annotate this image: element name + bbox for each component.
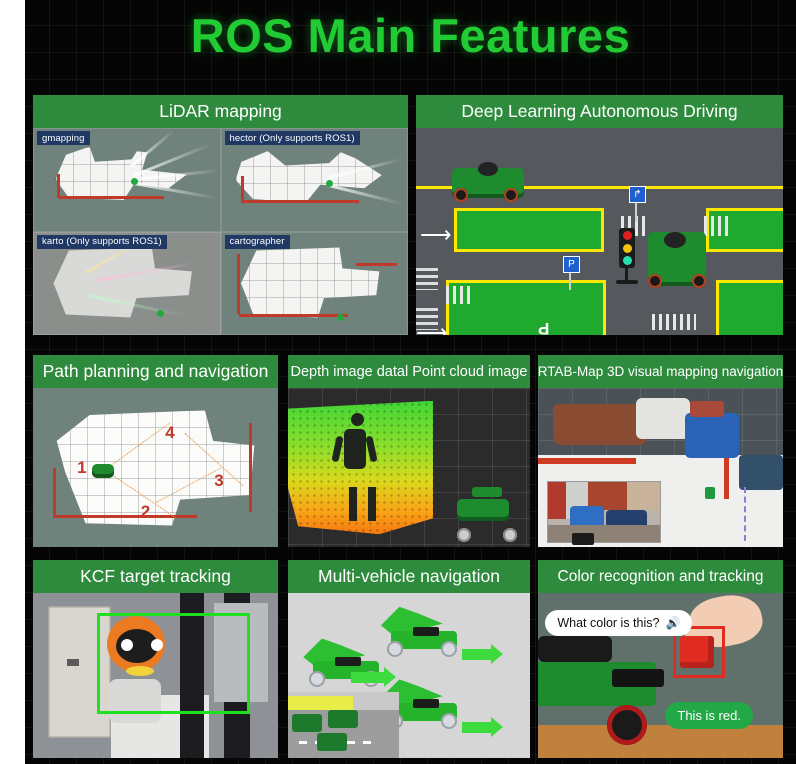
person-torso: [344, 429, 366, 469]
answer-bubble: This is red.: [665, 702, 753, 729]
sim-vehicle-wheel: [309, 671, 325, 687]
question-bubble: What color is this? 🔊: [545, 610, 692, 636]
navigation-trajectory: [744, 487, 746, 541]
robot-pose-marker: [131, 178, 138, 185]
robot-car: [572, 533, 594, 545]
panel-body-color-recognition: What color is this? 🔊 This is red.: [538, 593, 783, 758]
grass-block: [454, 208, 604, 252]
panel-body-multi-vehicle: [288, 593, 530, 758]
cloud-blob-wall: [553, 404, 646, 445]
direction-arrow-icon: [462, 722, 492, 733]
panel-header-color-recognition: Color recognition and tracking: [538, 560, 783, 593]
map-wall: [239, 314, 348, 317]
map-grid: [232, 246, 386, 321]
lidar-label-hector: hector (Only supports ROS1): [225, 131, 360, 145]
map-wall: [243, 200, 359, 203]
car-wheel: [504, 188, 518, 202]
crosswalk-stripe: [704, 216, 728, 236]
cloud-blob-green: [705, 487, 715, 499]
map-wall: [59, 196, 164, 199]
real-robot: [328, 710, 358, 728]
car-lidar: [478, 162, 498, 176]
panel-body-path-planning: 1 2 3 4: [33, 388, 278, 547]
grass-block: [446, 280, 606, 335]
map-wall: [356, 263, 397, 266]
direction-arrow-icon: [462, 649, 492, 660]
robot-car: [457, 499, 509, 521]
sim-vehicle-wheel: [387, 641, 403, 657]
traffic-light-yellow: [623, 244, 632, 253]
sim-vehicle-top: [413, 699, 439, 708]
inset-lane-yellow: [288, 696, 353, 711]
door-handle: [67, 659, 79, 666]
crosswalk-stripe: [446, 286, 470, 304]
occupancy-map: [44, 246, 198, 321]
map-wall: [57, 174, 60, 199]
traffic-sign-parking: P: [563, 256, 580, 273]
robot-lidar: [538, 636, 612, 662]
car-wheel: [648, 274, 662, 288]
cloud-blob-white: [636, 398, 690, 439]
robot-car: [92, 464, 114, 478]
traffic-sign-turn: ↱: [629, 186, 646, 203]
panel-multi-vehicle[interactable]: Multi-vehicle navigation: [288, 560, 530, 758]
ros-features-poster: ROS Main Features LiDAR mapping gmapping…: [0, 0, 796, 764]
map-wall: [53, 468, 56, 519]
panel-header-rtab: RTAB-Map 3D visual mapping navigation: [538, 355, 783, 388]
panel-header-driving: Deep Learning Autonomous Driving: [416, 95, 783, 128]
occupancy-map: [232, 246, 386, 321]
road-arrow-icon: ⟶: [420, 224, 452, 246]
waypoint-2: 2: [141, 502, 150, 522]
sign-pole: [569, 270, 571, 290]
panel-kcf-tracking[interactable]: KCF target tracking: [33, 560, 278, 758]
zebra-crossing: [652, 314, 696, 330]
robot-pose-marker: [326, 180, 333, 187]
panel-body-kcf: [33, 593, 278, 758]
panel-body-lidar: gmapping hector (Only supports ROS1): [33, 128, 408, 335]
sim-vehicle-wheel: [441, 713, 457, 729]
robot-pose-marker: [337, 314, 344, 321]
lidar-quadrant-gmapping[interactable]: gmapping: [33, 128, 221, 232]
traffic-light: [619, 228, 635, 268]
inset-floor: [548, 525, 661, 542]
panel-lidar-mapping[interactable]: LiDAR mapping gmapping hector (Only supp…: [33, 95, 408, 335]
car-wheel: [454, 188, 468, 202]
panel-autonomous-driving[interactable]: Deep Learning Autonomous Driving ↱: [416, 95, 783, 335]
zebra-crossing: [416, 268, 438, 290]
inset-wall-red: [548, 482, 566, 519]
panel-body-driving: ↱ P ⟶ ⟶ P: [416, 128, 783, 335]
inset-wall: [627, 482, 661, 510]
panel-body-rtab: [538, 388, 783, 547]
waypoint-4: 4: [165, 423, 174, 443]
panel-header-depth: Depth image datal Point cloud image: [288, 355, 530, 388]
real-robot-inset: [288, 692, 399, 758]
car-plate: [472, 487, 502, 497]
map-wall: [241, 176, 244, 203]
panel-depth-image[interactable]: Depth image datal Point cloud image: [288, 355, 530, 547]
tracking-bounding-box: [97, 613, 250, 715]
map-wall: [249, 423, 252, 512]
panel-header-multi-vehicle: Multi-vehicle navigation: [288, 560, 530, 593]
panel-body-depth: [288, 388, 530, 547]
person-leg: [368, 487, 376, 521]
lidar-label-karto: karto (Only supports ROS1): [37, 235, 167, 249]
cloud-blob-red: [690, 401, 724, 417]
map-wall: [237, 254, 240, 314]
robot-pose-marker: [157, 310, 164, 317]
road-marking-p: P: [538, 318, 549, 335]
car-lidar: [664, 232, 686, 248]
traffic-light-base: [616, 280, 638, 284]
traffic-light-green: [623, 256, 632, 265]
car-wheel: [692, 274, 706, 288]
lidar-quadrant-karto[interactable]: karto (Only supports ROS1): [33, 232, 221, 336]
real-robot: [317, 733, 347, 751]
sim-vehicle-top: [335, 657, 361, 666]
speaker-icon: 🔊: [665, 616, 680, 630]
traffic-light-red: [623, 231, 632, 240]
waypoint-3: 3: [214, 471, 223, 491]
road-arrow-icon: ⟶: [416, 322, 448, 335]
page-title: ROS Main Features: [25, 8, 796, 63]
panel-header-kcf: KCF target tracking: [33, 560, 278, 593]
lidar-label-gmapping: gmapping: [37, 131, 90, 145]
lidar-label-cartographer: cartographer: [225, 235, 290, 249]
sim-vehicle-top: [413, 627, 439, 636]
sign-pole: [635, 200, 637, 222]
panel-rtab-map[interactable]: RTAB-Map 3D visual mapping navigation: [538, 355, 783, 547]
panel-color-recognition[interactable]: Color recognition and tracking What colo…: [538, 560, 783, 758]
sim-vehicle-wheel: [441, 641, 457, 657]
waypoint-1: 1: [77, 458, 86, 478]
cloud-blob-sofa: [685, 413, 739, 458]
grass-block: [716, 280, 783, 335]
real-robot: [292, 714, 322, 732]
desk-surface: [538, 725, 783, 758]
panel-header-lidar: LiDAR mapping: [33, 95, 408, 128]
camera-inset: [548, 482, 661, 542]
sim-vehicle: [385, 613, 465, 659]
question-text: What color is this?: [557, 616, 659, 630]
robot-camera: [612, 669, 664, 687]
robot-wheel: [607, 705, 647, 745]
cloud-blob-floorline: [724, 458, 729, 499]
cloud-blob-floorline: [538, 458, 636, 464]
lidar-quadrant-hector[interactable]: hector (Only supports ROS1): [221, 128, 409, 232]
person-leg: [349, 487, 357, 521]
direction-arrow-icon: [351, 672, 385, 683]
cloud-blob-dark: [739, 455, 783, 490]
panel-header-path-planning: Path planning and navigation: [33, 355, 278, 388]
lidar-quadrant-cartographer[interactable]: cartographer: [221, 232, 409, 336]
panel-path-planning[interactable]: Path planning and navigation 1 2 3 4: [33, 355, 278, 547]
